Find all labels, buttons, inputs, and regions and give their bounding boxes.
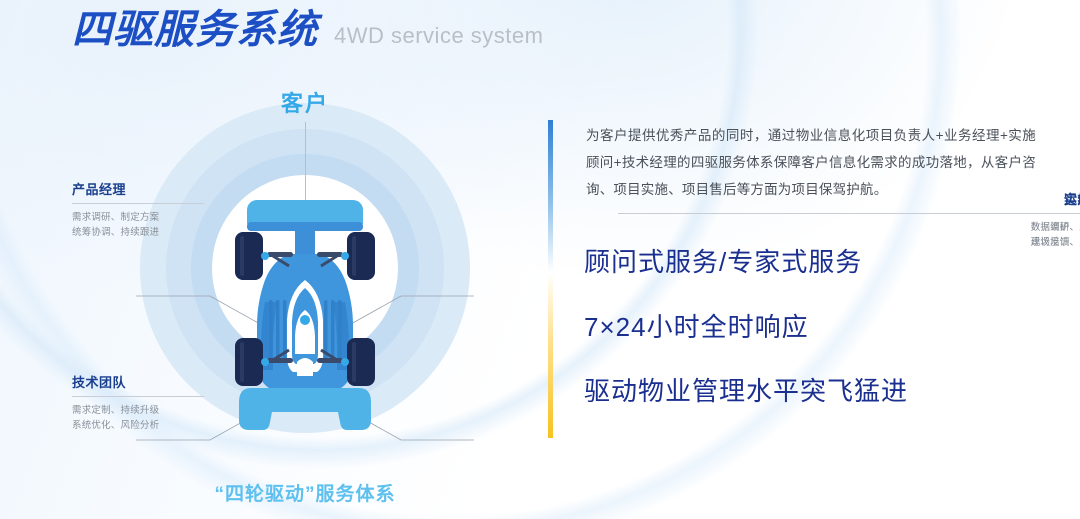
slide-canvas: 四驱服务系统 4WD service system 客户	[0, 0, 1080, 519]
fourwd-diagram: 客户	[70, 72, 540, 512]
accent-gradient-bar	[548, 120, 553, 438]
node-product-manager[interactable]: 产品经理 需求调研、制定方案 统筹协调、持续跟进	[72, 182, 204, 241]
customer-label: 客户	[70, 86, 540, 118]
highlight-list: 顾问式服务/专家式服务 7×24小时全时响应 驱动物业管理水平突飞猛进	[584, 248, 908, 406]
highlight-item: 驱动物业管理水平突飞猛进	[584, 377, 908, 406]
4wd-car-icon	[221, 192, 389, 430]
node-desc-line2: 系统优化、风险分析	[72, 418, 204, 434]
diagram-caption: “四轮驱动”服务体系	[70, 479, 540, 506]
node-divider	[618, 213, 1080, 214]
node-desc-line1: 需求定制、持续升级	[72, 403, 204, 419]
highlight-item: 7×24小时全时响应	[584, 313, 908, 342]
highlight-item: 顾问式服务/专家式服务	[584, 248, 908, 277]
page-subtitle: 4WD service system	[334, 25, 543, 50]
node-desc-line1: 数据维护、服务响应	[618, 220, 1080, 236]
node-desc-line1: 需求调研、制定方案	[72, 210, 204, 226]
node-technical-team[interactable]: 技术团队 需求定制、持续升级 系统优化、风险分析	[72, 375, 204, 434]
node-title: 产品经理	[72, 182, 204, 198]
page-header: 四驱服务系统 4WD service system	[72, 10, 543, 50]
node-divider	[72, 396, 204, 397]
node-divider	[72, 203, 204, 204]
node-title: 技术团队	[72, 375, 204, 391]
description-paragraph: 为客户提供优秀产品的同时，通过物业信息化项目负责人+业务经理+实施顾问+技术经理…	[586, 122, 1036, 203]
page-title: 四驱服务系统	[72, 10, 318, 50]
node-desc-line2: 统筹协调、持续跟进	[72, 225, 204, 241]
